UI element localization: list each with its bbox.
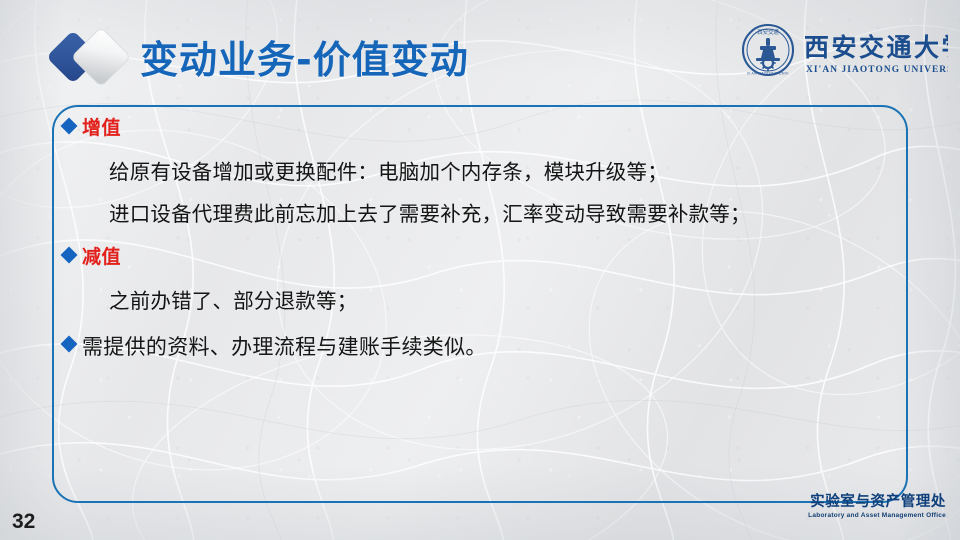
svg-text:XI'AN JIAOTONG UNIV.: XI'AN JIAOTONG UNIV.	[747, 72, 790, 76]
footer-organization: 实验室与资产管理处 Laboratory and Asset Managemen…	[808, 494, 946, 520]
sub-line: 之前办错了、部分退款等；	[109, 280, 906, 322]
slide-header: 变动业务-价值变动 西安交通	[0, 0, 960, 100]
footer-org-name-en: Laboratory and Asset Management Office	[808, 511, 946, 520]
xian-jiaotong-university-logo-icon: 西安交通 XI'AN JIAOTONG UNIV. 西安交通大学 XI'AN J…	[736, 22, 948, 84]
list-item: 增值	[56, 113, 906, 143]
content-bullet-list: 增值 给原有设备增加或更换配件：电脑加个内存条，模块升级等； 进口设备代理费此前…	[56, 113, 906, 363]
page-title: 变动业务-价值变动	[140, 29, 469, 84]
bullet-label: 需提供的资料、办理流程与建账手续类似。	[82, 331, 487, 363]
bullet-label: 减值	[82, 242, 121, 272]
svg-text:西安交通: 西安交通	[757, 28, 779, 36]
diamond-bullet-icon	[56, 331, 82, 350]
sub-line: 进口设备代理费此前忘加上去了需要补充，汇率变动导致需要补款等；	[109, 193, 906, 235]
presentation-slide: 变动业务-价值变动 西安交通	[0, 0, 960, 540]
list-item: 减值	[56, 242, 906, 272]
university-name-en: XI'AN JIAOTONG UNIVERSITY	[806, 65, 948, 75]
sub-line: 给原有设备增加或更换配件：电脑加个内存条，模块升级等；	[109, 151, 906, 193]
list-item: 需提供的资料、办理流程与建账手续类似。	[56, 331, 906, 363]
university-name-cn: 西安交通大学	[804, 33, 948, 62]
bullet-label: 增值	[82, 113, 121, 143]
diamond-bullet-icon	[56, 113, 82, 132]
footer-org-name-cn: 实验室与资产管理处	[808, 494, 946, 510]
dual-diamond-logo-icon	[43, 28, 139, 86]
diamond-bullet-icon	[56, 242, 82, 261]
page-number: 32	[12, 510, 35, 534]
